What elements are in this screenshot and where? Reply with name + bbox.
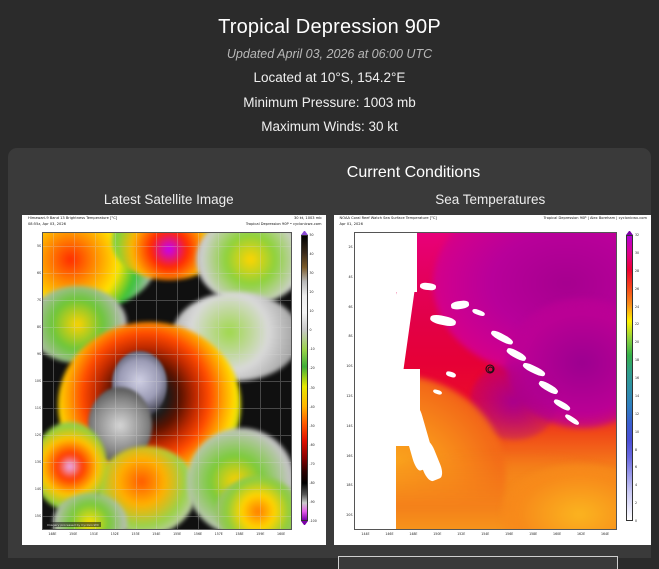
colorbar-tick-label: 28 [635, 269, 639, 273]
current-conditions-card: Current Conditions Latest Satellite Imag… [8, 148, 651, 558]
colorbar-tick-label: 20 [635, 340, 639, 344]
colorbar-tick-label: -50 [310, 424, 315, 428]
sst-header-product: NOAA Coral Reef Watch Sea Surface Temper… [340, 216, 437, 222]
satellite-credit-stamp: Imagery processed by CyclonicWX [45, 522, 101, 527]
colorbar-tick-label: 14 [635, 394, 639, 398]
axis-tick-label: 4S [348, 275, 352, 279]
colorbar-tick-label: 2 [635, 501, 637, 505]
sst-figure-header: NOAA Coral Reef Watch Sea Surface Temper… [334, 215, 652, 232]
axis-tick-label: 148E [409, 532, 417, 536]
sst-colorbar-ticks: 32302826242220181614121086420 [634, 235, 647, 521]
axis-tick-label: 152E [111, 532, 119, 536]
axis-tick-label: 158E [235, 532, 243, 536]
axis-tick-label: 158E [529, 532, 537, 536]
colorbar-tick-label: -30 [310, 386, 315, 390]
page-root: Tropical Depression 90P Updated April 03… [0, 0, 659, 569]
axis-tick-label: 151E [90, 532, 98, 536]
last-updated-text: Updated April 03, 2026 at 06:00 UTC [10, 47, 649, 61]
axis-tick-label: 159E [256, 532, 264, 536]
colorbar-tick-label: -90 [310, 500, 315, 504]
axis-tick-label: 5S [37, 244, 41, 248]
axis-tick-label: 160E [277, 532, 285, 536]
axis-tick-label: 11S [35, 406, 41, 410]
storm-location-text: Located at 10°S, 154.2°E [10, 68, 649, 88]
page-title: Tropical Depression 90P [10, 14, 649, 41]
colorbar-tick-label: 30 [635, 251, 639, 255]
satellite-plot-area: Imagery processed by CyclonicWX [42, 232, 292, 530]
axis-tick-label: 12S [35, 433, 41, 437]
axis-tick-label: 164E [601, 532, 609, 536]
satellite-figure-header: Himawari-9 Band 13 Brightness Temperatur… [22, 215, 326, 232]
axis-tick-label: 8S [348, 334, 352, 338]
axis-tick-label: 20S [346, 513, 352, 517]
sst-y-axis: 2S4S6S8S10S12S14S16S18S20S [336, 232, 354, 530]
colorbar-tick-label: -70 [310, 462, 315, 466]
panels-row: Latest Satellite Image Himawari-9 Band 1… [8, 192, 651, 545]
axis-tick-label: 153E [132, 532, 140, 536]
panel-sst: Sea Temperatures NOAA Coral Reef Watch S… [330, 192, 652, 545]
axis-tick-label: 7S [37, 298, 41, 302]
colorbar-tick-label: 22 [635, 322, 639, 326]
sst-figure[interactable]: NOAA Coral Reef Watch Sea Surface Temper… [334, 215, 652, 545]
colorbar-tick-label: -20 [310, 366, 315, 370]
axis-tick-label: 10S [346, 364, 352, 368]
satellite-colorbar-ticks: 50403020100-10-20-30-40-50-60-70-80-90-1… [309, 235, 322, 521]
axis-tick-label: 146E [385, 532, 393, 536]
colorbar-tick-label: -40 [310, 405, 315, 409]
colorbar-tick-label: 10 [310, 309, 314, 313]
colorbar-tick-label: 0 [635, 519, 637, 523]
axis-tick-label: 14S [346, 424, 352, 428]
colorbar-tick-label: 24 [635, 305, 639, 309]
colorbar-tick-label: 32 [635, 233, 639, 237]
colorbar-tick-label: 18 [635, 358, 639, 362]
colorbar-tick-label: 10 [635, 430, 639, 434]
bottom-partial-panel[interactable] [338, 556, 618, 569]
sst-header-credit: Tropical Depression 90P | Alex Boreham |… [544, 216, 647, 222]
colorbar-tick-label: 8 [635, 448, 637, 452]
satellite-y-axis: 5S6S7S8S9S10S11S12S13S14S15S [24, 232, 42, 530]
storm-header: Tropical Depression 90P Updated April 03… [0, 0, 659, 158]
axis-tick-label: 150E [69, 532, 77, 536]
axis-tick-label: 154E [481, 532, 489, 536]
colorbar-tick-label: 26 [635, 287, 639, 291]
sst-header-date: Apr 01, 2026 [340, 222, 437, 228]
axis-tick-label: 15S [35, 514, 41, 518]
colorbar-tick-label: -100 [310, 519, 317, 523]
section-title: Current Conditions [8, 164, 651, 182]
colorbar-tick-label: 40 [310, 252, 314, 256]
sst-imagery [355, 233, 617, 529]
storm-center-marker [486, 365, 495, 374]
sst-plot-area [354, 232, 618, 530]
axis-tick-label: 13S [35, 460, 41, 464]
panel-satellite-title: Latest Satellite Image [8, 192, 330, 207]
sst-colorbar-bottom-arrow [626, 521, 633, 525]
axis-tick-label: 154E [152, 532, 160, 536]
satellite-header-timestamp: 08:55z, Apr 03, 2026 [28, 222, 117, 228]
axis-tick-label: 144E [361, 532, 369, 536]
storm-pressure-text: Minimum Pressure: 1003 mb [10, 93, 649, 113]
colorbar-tick-label: 16 [635, 376, 639, 380]
satellite-x-axis: 148E150E151E152E153E154E155E156E157E158E… [42, 532, 292, 542]
axis-tick-label: 12S [346, 394, 352, 398]
satellite-gridlines [43, 233, 291, 529]
storm-winds-text: Maximum Winds: 30 kt [10, 117, 649, 137]
colorbar-tick-label: 12 [635, 412, 639, 416]
axis-tick-label: 152E [457, 532, 465, 536]
axis-tick-label: 160E [553, 532, 561, 536]
sst-colorbar [626, 235, 633, 521]
colorbar-tick-label: 20 [310, 290, 314, 294]
colorbar-tick-label: -60 [310, 443, 315, 447]
satellite-colorbar-bottom-arrow [301, 521, 308, 525]
axis-tick-label: 155E [173, 532, 181, 536]
axis-tick-label: 148E [48, 532, 56, 536]
colorbar-tick-label: -10 [310, 347, 315, 351]
colorbar-tick-label: 6 [635, 465, 637, 469]
axis-tick-label: 8S [37, 325, 41, 329]
axis-tick-label: 2S [348, 245, 352, 249]
colorbar-tick-label: 50 [310, 233, 314, 237]
panel-sst-title: Sea Temperatures [330, 192, 652, 207]
colorbar-tick-label: 30 [310, 271, 314, 275]
satellite-colorbar [301, 235, 308, 521]
axis-tick-label: 16S [346, 454, 352, 458]
axis-tick-label: 6S [37, 271, 41, 275]
axis-tick-label: 156E [505, 532, 513, 536]
axis-tick-label: 9S [37, 352, 41, 356]
sst-x-axis: 144E146E148E150E152E154E156E158E160E162E… [354, 532, 618, 542]
colorbar-tick-label: 4 [635, 483, 637, 487]
satellite-header-credit: Tropical Depression 90P • cyclonicwx.com [246, 222, 322, 228]
colorbar-tick-label: -80 [310, 481, 315, 485]
axis-tick-label: 162E [577, 532, 585, 536]
colorbar-tick-label: 0 [310, 328, 312, 332]
panel-satellite: Latest Satellite Image Himawari-9 Band 1… [8, 192, 330, 545]
axis-tick-label: 6S [348, 305, 352, 309]
axis-tick-label: 14S [35, 487, 41, 491]
axis-tick-label: 150E [433, 532, 441, 536]
axis-tick-label: 157E [215, 532, 223, 536]
axis-tick-label: 156E [194, 532, 202, 536]
satellite-figure[interactable]: Himawari-9 Band 13 Brightness Temperatur… [22, 215, 326, 545]
axis-tick-label: 10S [35, 379, 41, 383]
axis-tick-label: 18S [346, 483, 352, 487]
satellite-header-product: Himawari-9 Band 13 Brightness Temperatur… [28, 216, 117, 222]
